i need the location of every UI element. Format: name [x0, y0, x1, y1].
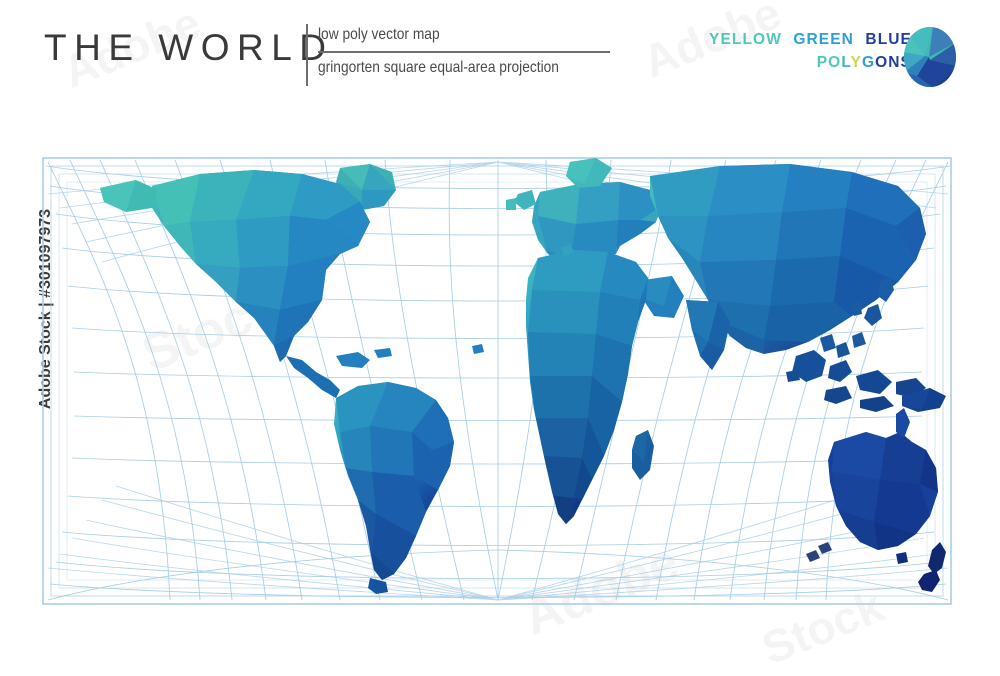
continent-asia [642, 164, 926, 370]
continent-africa [526, 250, 654, 524]
stock-watermark: Adobe Stock | #301097973 [7, 0, 41, 658]
world-map [40, 150, 956, 612]
continent-australia [828, 388, 946, 564]
low-poly-sphere-logo [903, 26, 957, 88]
palette-badge: YELLOW GREEN BLUE POLYGONS [703, 28, 912, 74]
subtitle-top: low poly vector map [318, 24, 569, 46]
page-title: THE WORLD [44, 26, 334, 70]
palette-line-2: POLYGONS [703, 51, 912, 74]
palette-line-1: YELLOW GREEN BLUE [703, 28, 912, 51]
palette-word-yellow: YELLOW [709, 31, 782, 48]
subtitle-block: low poly vector map gringorten square eq… [318, 24, 610, 79]
continent-south-america [334, 382, 454, 594]
palette-word-polygons: POLYGONS [817, 54, 912, 71]
header: THE WORLD low poly vector map gringorten… [0, 0, 1000, 120]
map-svg [40, 150, 956, 612]
subtitle-bottom: gringorten square equal-area projection [318, 57, 569, 79]
title-block: THE WORLD [44, 26, 334, 70]
subtitle-rule [318, 51, 610, 53]
title-divider [306, 24, 308, 86]
palette-word-green: GREEN [793, 31, 854, 48]
continent-north-america [100, 170, 370, 362]
